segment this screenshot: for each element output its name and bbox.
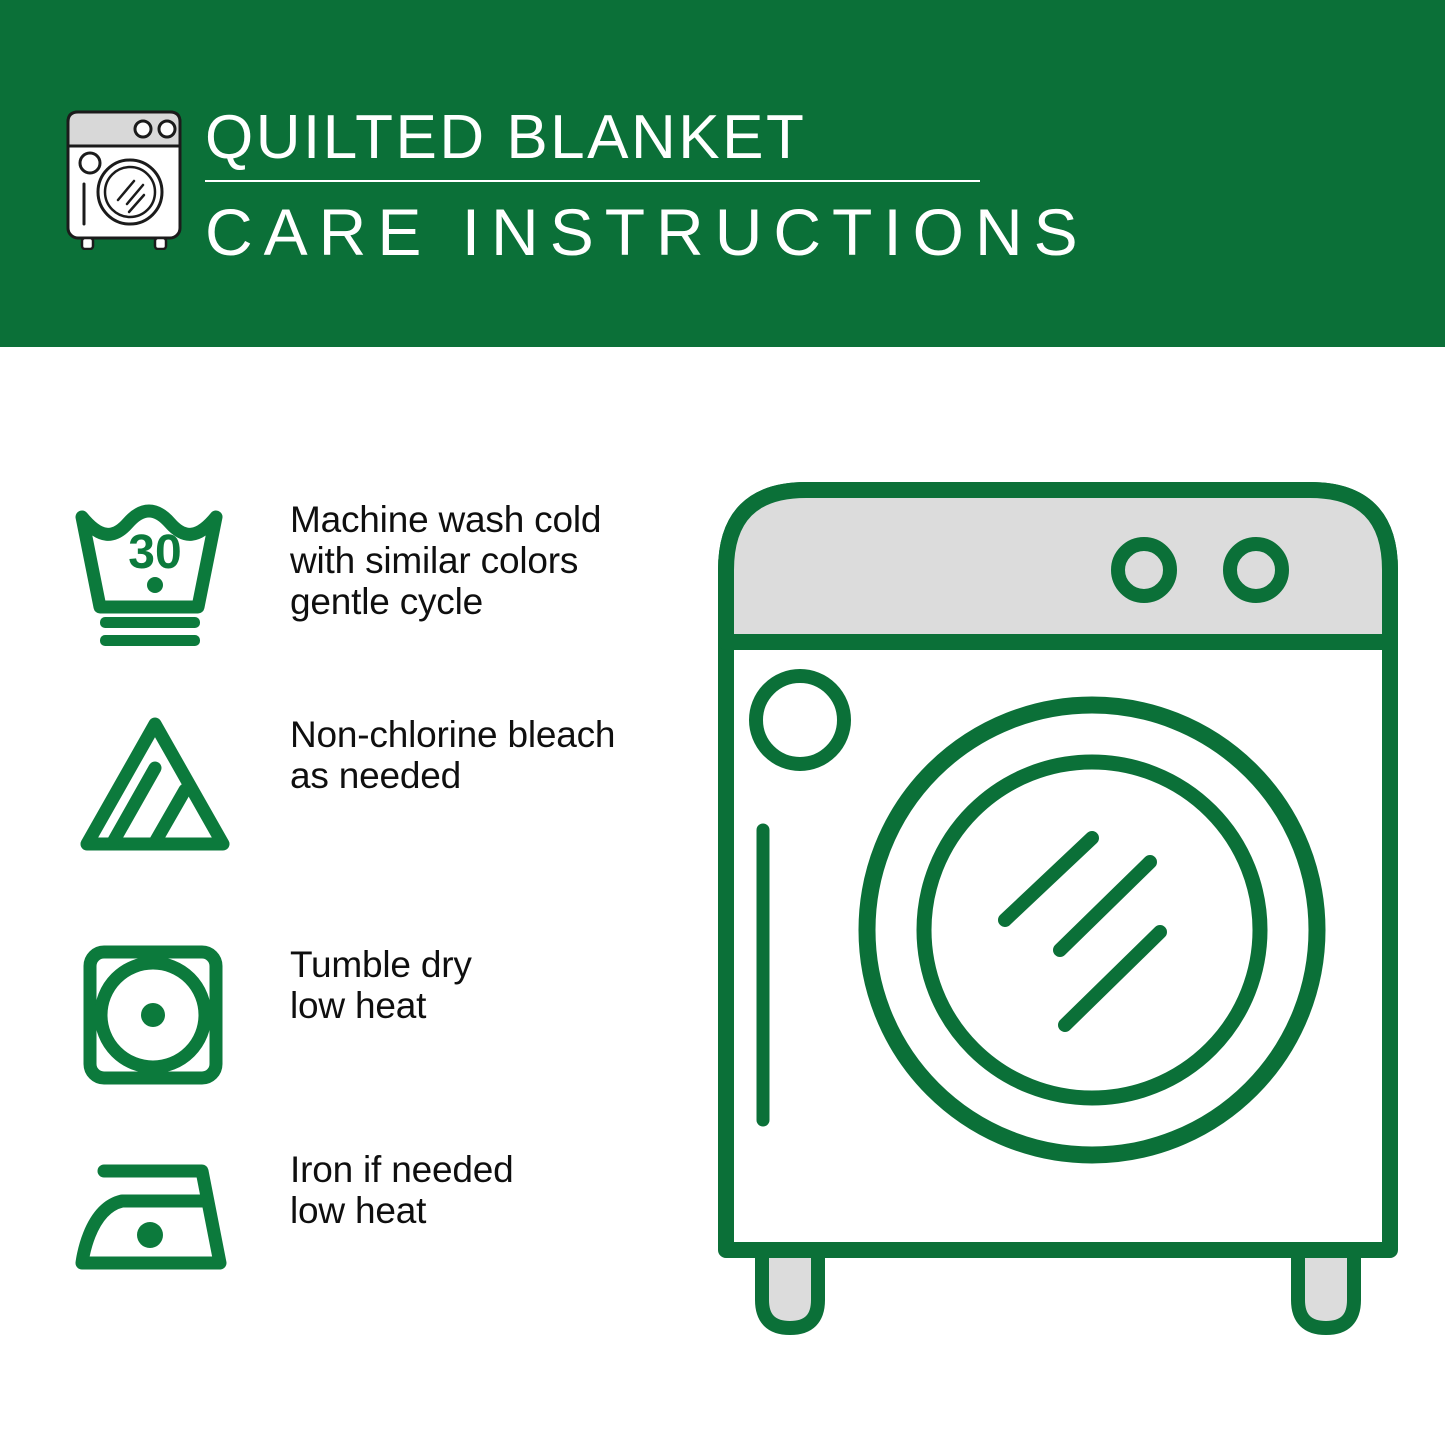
instruction-row: 30 Machine wash cold with similar colors… xyxy=(0,495,700,650)
top-control-panel xyxy=(726,490,1390,642)
instruction-text: Tumble dry low heat xyxy=(290,940,700,1026)
instruction-line: low heat xyxy=(290,1190,700,1231)
wash-tub-30-gentle-icon: 30 xyxy=(0,495,290,650)
title-divider xyxy=(205,180,980,182)
instruction-row: Tumble dry low heat xyxy=(0,940,700,1090)
instruction-row: Non-chlorine bleach as needed xyxy=(0,710,700,860)
instruction-line: Tumble dry xyxy=(290,944,700,985)
page-subtitle: CARE INSTRUCTIONS xyxy=(205,196,995,268)
tumble-dry-low-icon xyxy=(0,940,290,1090)
instruction-text: Machine wash cold with similar colors ge… xyxy=(290,495,700,622)
page-title: QUILTED BLANKET xyxy=(205,104,995,172)
instruction-line: Machine wash cold xyxy=(290,499,700,540)
control-knob-right xyxy=(1230,544,1282,596)
instruction-line: with similar colors xyxy=(290,540,700,581)
iron-low-heat-icon xyxy=(0,1145,290,1285)
instruction-line: Non-chlorine bleach xyxy=(290,714,700,755)
instruction-line: low heat xyxy=(290,985,700,1026)
header-band: QUILTED BLANKET CARE INSTRUCTIONS xyxy=(0,0,1445,347)
non-chlorine-bleach-triangle-icon xyxy=(0,710,290,860)
instruction-list: 30 Machine wash cold with similar colors… xyxy=(0,347,700,1445)
front-load-washing-machine-illustration xyxy=(710,470,1420,1370)
care-instructions-page: QUILTED BLANKET CARE INSTRUCTIONS 30 xyxy=(0,0,1445,1445)
wash-temperature-label: 30 xyxy=(128,526,181,579)
instruction-line: Iron if needed xyxy=(290,1149,700,1190)
instruction-line: as needed xyxy=(290,755,700,796)
header-text-block: QUILTED BLANKET CARE INSTRUCTIONS xyxy=(205,104,995,268)
door-inner-ring xyxy=(924,762,1260,1098)
indicator-circle xyxy=(756,676,844,764)
instruction-line: gentle cycle xyxy=(290,581,700,622)
instruction-text: Non-chlorine bleach as needed xyxy=(290,710,700,796)
instruction-text: Iron if needed low heat xyxy=(290,1145,700,1231)
control-knob-left xyxy=(1118,544,1170,596)
instruction-row: Iron if needed low heat xyxy=(0,1145,700,1285)
washing-machine-icon xyxy=(64,108,184,250)
